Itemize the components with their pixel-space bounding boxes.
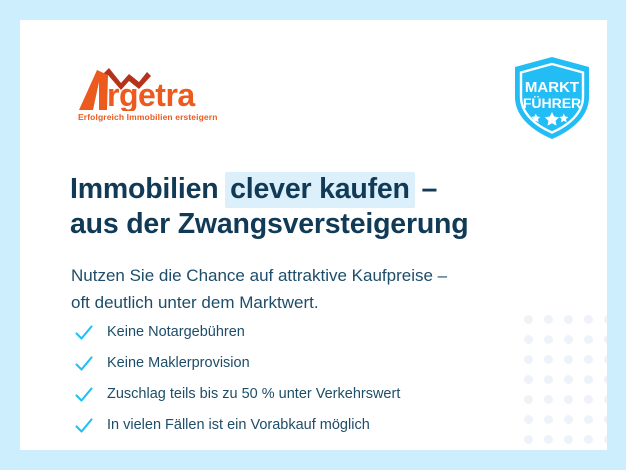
list-item: In vielen Fällen ist ein Vorabkauf mögli… xyxy=(74,413,504,444)
check-icon xyxy=(74,323,94,343)
check-icon xyxy=(74,416,94,436)
dot xyxy=(524,335,533,344)
dot xyxy=(524,375,533,384)
headline-highlight: clever kaufen xyxy=(225,172,415,208)
logo-tagline: Erfolgreich Immobilien ersteigern xyxy=(78,112,218,122)
dot xyxy=(544,355,553,364)
dot xyxy=(564,435,573,444)
dot xyxy=(524,315,533,324)
markt-fuehrer-badge: MARKT FÜHRER xyxy=(509,55,595,141)
dot xyxy=(604,335,607,344)
dot xyxy=(544,415,553,424)
dot xyxy=(544,335,553,344)
dot xyxy=(604,395,607,404)
dot xyxy=(564,315,573,324)
list-item-label: Keine Notargebühren xyxy=(107,324,245,340)
argetra-logo[interactable]: rgetra Erfolgreich Immobilien ersteigern xyxy=(77,66,217,124)
list-item-label: In vielen Fällen ist ein Vorabkauf mögli… xyxy=(107,417,370,433)
list-item: Keine Maklerprovision xyxy=(74,351,504,382)
dot xyxy=(544,315,553,324)
dot xyxy=(544,435,553,444)
list-item-label: Zuschlag teils bis zu 50 % unter Verkehr… xyxy=(107,386,400,402)
headline-part1: Immobilien xyxy=(70,173,226,205)
dot xyxy=(584,335,593,344)
list-item: Zuschlag teils bis zu 50 % unter Verkehr… xyxy=(74,382,504,413)
badge-line2: FÜHRER xyxy=(523,95,581,111)
dot xyxy=(584,315,593,324)
dot xyxy=(564,395,573,404)
dot xyxy=(544,395,553,404)
subtitle-line2: oft deutlich unter dem Marktwert. xyxy=(71,293,319,312)
svg-text:rgetra: rgetra xyxy=(107,77,195,111)
headline-line2: aus der Zwangsversteigerung xyxy=(70,208,468,240)
dot xyxy=(564,335,573,344)
subtitle-line1: Nutzen Sie die Chance auf attraktive Kau… xyxy=(71,266,447,285)
dot xyxy=(604,355,607,364)
list-item-label: Keine Maklerprovision xyxy=(107,355,250,371)
benefits-list: Keine Notargebühren Keine Maklerprovisio… xyxy=(74,320,504,444)
dot xyxy=(524,395,533,404)
list-item: Keine Notargebühren xyxy=(74,320,504,351)
argetra-wordmark-icon: rgetra xyxy=(77,66,217,111)
dot xyxy=(584,355,593,364)
dot xyxy=(524,415,533,424)
dot xyxy=(524,355,533,364)
badge-line1: MARKT xyxy=(525,79,579,96)
dot xyxy=(604,435,607,444)
check-icon xyxy=(74,385,94,405)
check-icon xyxy=(74,354,94,374)
content-card: rgetra Erfolgreich Immobilien ersteigern… xyxy=(20,20,607,450)
dot xyxy=(584,415,593,424)
dot xyxy=(604,415,607,424)
dot xyxy=(564,355,573,364)
subtitle: Nutzen Sie die Chance auf attraktive Kau… xyxy=(71,262,541,316)
page-title: Immobilien clever kaufen – aus der Zwang… xyxy=(70,172,540,242)
dot xyxy=(604,375,607,384)
dot xyxy=(544,375,553,384)
promo-banner: rgetra Erfolgreich Immobilien ersteigern… xyxy=(0,0,626,470)
dot xyxy=(564,415,573,424)
dot xyxy=(524,435,533,444)
dot xyxy=(584,395,593,404)
headline-part2: – xyxy=(414,173,437,205)
dot-grid-decoration xyxy=(519,310,607,450)
dot xyxy=(604,315,607,324)
dot xyxy=(564,375,573,384)
dot xyxy=(584,375,593,384)
dot xyxy=(584,435,593,444)
